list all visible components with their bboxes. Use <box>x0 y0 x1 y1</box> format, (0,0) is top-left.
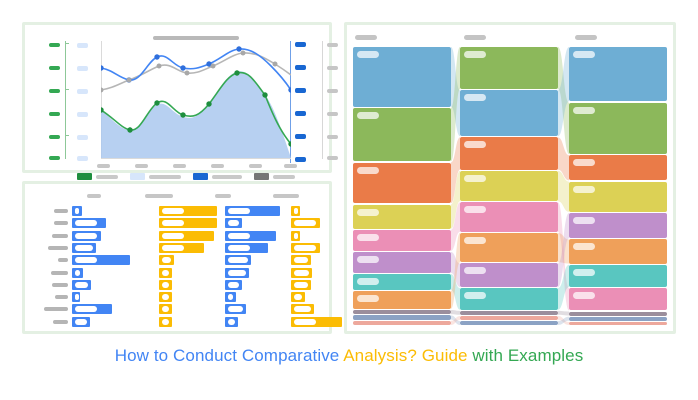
bar[interactable] <box>159 304 172 314</box>
bar[interactable] <box>225 255 251 265</box>
alluvial-node-label <box>573 51 595 58</box>
alluvial-node-label <box>357 295 379 302</box>
alluvial-node[interactable] <box>353 108 451 161</box>
alluvial-node[interactable] <box>569 239 667 263</box>
bar[interactable] <box>159 255 174 265</box>
xtick-label <box>135 164 148 168</box>
ytick-blue <box>295 42 306 47</box>
bar[interactable] <box>225 268 249 278</box>
alluvial-node[interactable] <box>569 182 667 212</box>
bar-value-pill <box>294 233 298 239</box>
alluvial-node[interactable] <box>569 312 667 316</box>
bar-value-pill <box>162 208 184 214</box>
bar-row-label <box>52 234 68 238</box>
alluvial-node[interactable] <box>569 155 667 180</box>
xtick-label <box>97 164 110 168</box>
bar-value-pill <box>294 270 309 276</box>
legend-label <box>212 175 242 179</box>
ytick-blue <box>295 65 306 70</box>
bar[interactable] <box>225 280 242 290</box>
ytick-green <box>49 156 60 160</box>
bar[interactable] <box>225 304 246 314</box>
alluvial-node-label <box>464 206 486 213</box>
alluvial-node[interactable] <box>460 311 558 315</box>
bar-row-label <box>53 320 68 324</box>
chart-legend <box>77 173 302 180</box>
bar-chart-panel <box>22 181 332 334</box>
alluvial-node-label <box>357 112 379 119</box>
alluvial-node[interactable] <box>353 205 451 229</box>
ytick-gray <box>327 89 338 93</box>
bar-value-pill <box>294 294 302 300</box>
alluvial-node-label <box>357 209 379 216</box>
bar[interactable] <box>291 317 342 327</box>
ytick-green <box>49 66 60 70</box>
xtick-label <box>211 164 224 168</box>
bar-value-pill <box>75 319 87 325</box>
ytick-pale <box>77 156 88 161</box>
bar-value-pill <box>228 294 233 300</box>
bar[interactable] <box>72 292 80 302</box>
bar[interactable] <box>72 255 130 265</box>
alluvial-node[interactable] <box>460 288 558 310</box>
page-caption: How to Conduct Comparative Analysis? Gui… <box>0 346 698 366</box>
xtick-label <box>284 164 297 168</box>
alluvial-node-label <box>357 234 379 241</box>
legend-item[interactable] <box>254 173 295 180</box>
alluvial-node[interactable] <box>353 321 451 325</box>
bar[interactable] <box>225 231 276 241</box>
legend-swatch-pale <box>130 173 145 180</box>
bar[interactable] <box>159 317 172 327</box>
xtick-label <box>249 164 262 168</box>
bar-value-pill <box>228 282 239 288</box>
legend-item[interactable] <box>193 173 242 180</box>
alluvial-node-label <box>464 141 486 148</box>
bar-value-pill <box>162 220 184 226</box>
bar[interactable] <box>159 243 204 253</box>
bar-value-pill <box>228 257 248 263</box>
alluvial-ribbon <box>451 310 460 315</box>
legend-item[interactable] <box>130 173 181 180</box>
alluvial-node[interactable] <box>353 310 451 314</box>
bar[interactable] <box>291 206 300 216</box>
legend-item[interactable] <box>77 173 118 180</box>
alluvial-node-label <box>357 167 379 174</box>
dashboard-board <box>22 22 676 334</box>
bar-value-pill <box>162 270 169 276</box>
bar-value-pill <box>228 319 235 325</box>
alluvial-node-label <box>573 186 595 193</box>
alluvial-node[interactable] <box>460 90 558 136</box>
alluvial-node[interactable] <box>353 163 451 204</box>
alluvial-node-label <box>573 107 595 114</box>
ytick-gray <box>327 43 338 47</box>
alluvial-node[interactable] <box>569 322 667 325</box>
ytick-pale <box>77 89 88 94</box>
axis-notch <box>65 43 69 44</box>
caption-part-2: Analysis? Guide <box>343 346 467 365</box>
alluvial-node[interactable] <box>460 137 558 169</box>
ytick-green <box>49 112 60 116</box>
bar[interactable] <box>291 280 311 290</box>
bar[interactable] <box>72 280 91 290</box>
alluvial-node-label <box>573 269 595 276</box>
legend-label <box>273 175 295 179</box>
bar-value-pill <box>75 233 97 239</box>
bar-value-pill <box>228 306 243 312</box>
bar-value-pill <box>75 282 88 288</box>
bar-value-pill <box>162 245 184 251</box>
bar-row-label <box>51 271 68 275</box>
bar-value-pill <box>294 319 316 325</box>
ytick-blue <box>295 134 306 139</box>
bar[interactable] <box>225 218 242 228</box>
alluvial-node-label <box>464 51 486 58</box>
alluvial-node[interactable] <box>569 47 667 101</box>
bar[interactable] <box>291 292 305 302</box>
alluvial-node[interactable] <box>353 230 451 251</box>
legend-swatch-green <box>77 173 92 180</box>
alluvial-node-label <box>464 237 486 244</box>
bar-value-pill <box>75 294 79 300</box>
bar[interactable] <box>159 292 172 302</box>
alluvial-node-label <box>464 292 486 299</box>
bar[interactable] <box>72 218 106 228</box>
ytick-blue <box>295 157 306 162</box>
bar-value-pill <box>294 220 316 226</box>
alluvial-node[interactable] <box>460 202 558 231</box>
alluvial-panel <box>344 22 676 334</box>
bar-value-pill <box>294 306 311 312</box>
bar[interactable] <box>159 268 172 278</box>
alluvial-node-label <box>573 159 595 166</box>
axis-notch <box>65 89 69 90</box>
bar[interactable] <box>225 317 238 327</box>
bar-value-pill <box>228 208 250 214</box>
bar-value-pill <box>228 245 250 251</box>
column-header <box>145 194 173 198</box>
bar-value-pill <box>162 257 171 263</box>
bar[interactable] <box>159 218 217 228</box>
alluvial-node-label <box>573 243 595 250</box>
blue-line-series <box>101 49 291 90</box>
alluvial-node[interactable] <box>460 263 558 286</box>
bar-value-pill <box>294 208 298 214</box>
legend-swatch-blue <box>193 173 208 180</box>
bar[interactable] <box>291 231 300 241</box>
bar[interactable] <box>72 243 96 253</box>
caption-part-3: with Examples <box>468 346 584 365</box>
bar-row-label <box>54 209 68 213</box>
ytick-gray <box>327 66 338 70</box>
alluvial-node-label <box>464 175 486 182</box>
legend-label <box>96 175 118 179</box>
ytick-pale <box>77 135 88 140</box>
alluvial-node-label <box>573 292 595 299</box>
alluvial-ribbon <box>558 311 569 316</box>
bar[interactable] <box>225 292 236 302</box>
bar[interactable] <box>291 268 312 278</box>
ytick-green <box>49 135 60 139</box>
ytick-green <box>49 43 60 47</box>
blue-markers <box>101 46 291 92</box>
alluvial-node-label <box>573 217 595 224</box>
alluvial-node-label <box>464 267 486 274</box>
alluvial-node[interactable] <box>569 213 667 238</box>
bar[interactable] <box>225 243 268 253</box>
bar[interactable] <box>291 243 320 253</box>
alluvial-node[interactable] <box>353 252 451 273</box>
alluvial-node-label <box>357 51 379 58</box>
left-green-axis <box>65 41 66 159</box>
bar-value-pill <box>228 220 239 226</box>
axis-notch <box>65 135 69 136</box>
alluvial-node[interactable] <box>460 233 558 262</box>
caption-part-1: How to Conduct Comparative <box>115 346 344 365</box>
alluvial-node[interactable] <box>460 321 558 325</box>
bar-value-pill <box>162 294 169 300</box>
alluvial-node[interactable] <box>460 47 558 89</box>
ytick-pale <box>77 43 88 48</box>
alluvial-node[interactable] <box>569 317 667 321</box>
bar-value-pill <box>162 233 184 239</box>
bar-row-label <box>55 295 68 299</box>
ytick-green <box>49 89 60 93</box>
bar-value-pill <box>162 282 169 288</box>
ytick-blue <box>295 88 306 93</box>
legend-swatch-gray <box>254 173 269 180</box>
bar-value-pill <box>75 270 80 276</box>
alluvial-node[interactable] <box>569 288 667 310</box>
bar[interactable] <box>291 304 314 314</box>
bar-row-label <box>44 307 68 311</box>
bar-value-pill <box>75 208 79 214</box>
ytick-blue <box>295 111 306 116</box>
bar-value-pill <box>294 282 308 288</box>
bar[interactable] <box>72 317 90 327</box>
bar-value-pill <box>162 319 169 325</box>
ytick-pale <box>77 66 88 71</box>
column-header <box>215 194 231 198</box>
ytick-gray <box>327 135 338 139</box>
bar[interactable] <box>159 280 172 290</box>
bar-value-pill <box>162 306 169 312</box>
column-header <box>87 194 101 198</box>
line-chart-plot <box>101 40 291 160</box>
ytick-pale <box>77 112 88 117</box>
bar-value-pill <box>294 245 316 251</box>
bar[interactable] <box>225 206 280 216</box>
bar[interactable] <box>72 268 83 278</box>
bar[interactable] <box>291 255 311 265</box>
bar-value-pill <box>228 233 250 239</box>
alluvial-node[interactable] <box>460 171 558 201</box>
legend-label <box>149 175 181 179</box>
alluvial-node[interactable] <box>353 291 451 309</box>
alluvial-node[interactable] <box>353 47 451 107</box>
bar-value-pill <box>75 257 97 263</box>
bar[interactable] <box>72 304 112 314</box>
bar[interactable] <box>159 231 214 241</box>
bar[interactable] <box>72 206 82 216</box>
bar[interactable] <box>159 206 217 216</box>
column-header <box>273 194 299 198</box>
alluvial-node[interactable] <box>460 316 558 320</box>
bar-row-label <box>52 283 68 287</box>
alluvial-node-label <box>357 256 379 263</box>
xtick-label <box>173 164 186 168</box>
bar-value-pill <box>294 257 308 263</box>
bar-value-pill <box>75 220 97 226</box>
alluvial-node[interactable] <box>353 315 451 319</box>
line-chart-panel <box>22 22 332 173</box>
alluvial-node-label <box>464 94 486 101</box>
right-gray-axis <box>322 41 323 159</box>
bar[interactable] <box>291 218 320 228</box>
ytick-gray <box>327 156 338 160</box>
alluvial-node[interactable] <box>569 265 667 287</box>
alluvial-node[interactable] <box>569 103 667 154</box>
alluvial-node-label <box>357 278 379 285</box>
alluvial-node[interactable] <box>353 274 451 290</box>
bar[interactable] <box>72 231 101 241</box>
bar-row-label <box>54 221 68 225</box>
bar-value-pill <box>75 306 97 312</box>
ytick-gray <box>327 112 338 116</box>
bar-value-pill <box>75 245 93 251</box>
bar-row-label <box>58 258 68 262</box>
bar-value-pill <box>228 270 246 276</box>
bar-row-label <box>48 246 68 250</box>
